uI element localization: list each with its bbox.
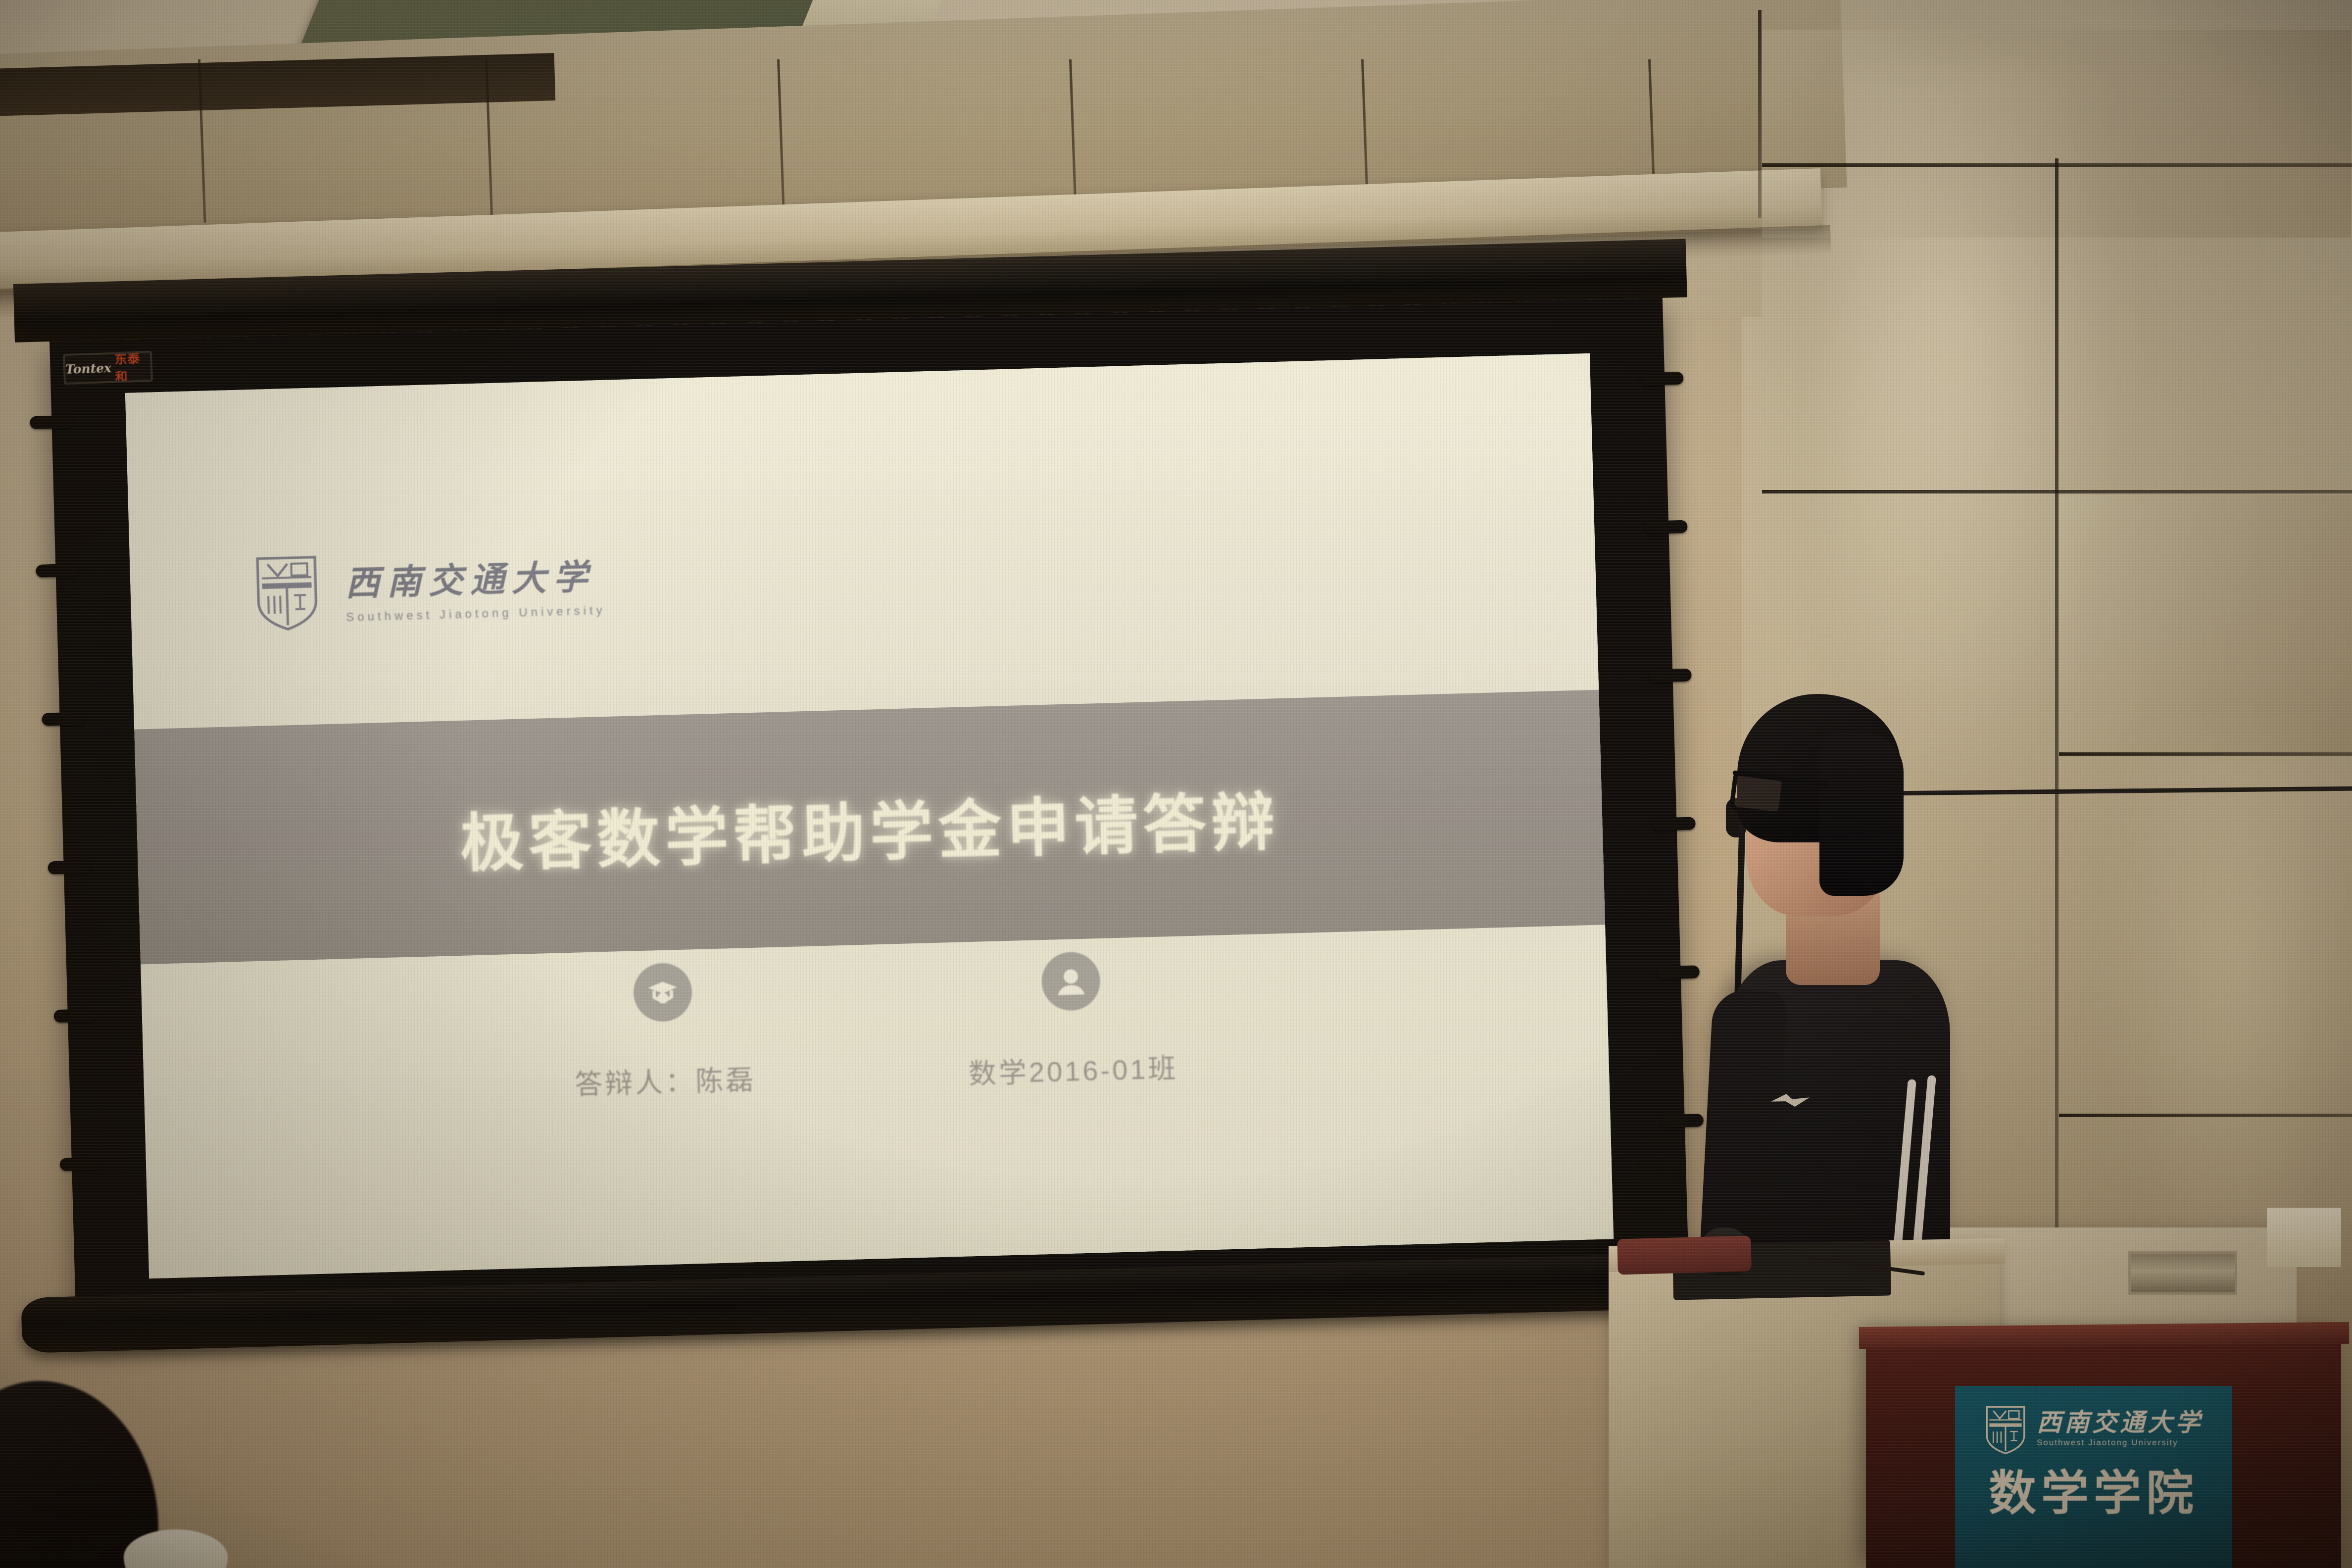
- brand-latin-text: Tontex: [65, 360, 112, 376]
- class-label: 数学2016-01班: [968, 1046, 1179, 1092]
- screen-projection-surface: 西南交通大学 Southwest Jiaotong University 极客数…: [125, 353, 1614, 1278]
- right-wall-panel: [2059, 495, 2352, 752]
- shield-crest-icon: [1984, 1403, 2027, 1455]
- screen-tension-tab: [1653, 817, 1696, 831]
- brand-cn-text: 东泰和: [114, 351, 151, 385]
- desk-wood-rail: [1617, 1235, 1752, 1274]
- slide-meta-presenter: 答辩人：陈磊: [572, 961, 756, 1103]
- right-wall-seam: [2059, 752, 2352, 756]
- projection-screen: 西南交通大学 Southwest Jiaotong University 极客数…: [49, 298, 1691, 1395]
- screen-tension-tab: [1657, 965, 1700, 979]
- screen-tension-tab: [1661, 1114, 1704, 1127]
- slide-meta-class: 数学2016-01班: [965, 949, 1178, 1092]
- right-wall-seam: [2059, 1114, 2352, 1117]
- screen-tension-tab: [1645, 520, 1688, 534]
- lecture-hall-photo: 西南交通大学 Southwest Jiaotong University 极客数…: [0, 0, 2352, 1568]
- monitor-vent-slot: [2128, 1251, 2237, 1295]
- podium-university-cn: 西南交通大学: [2037, 1410, 2203, 1435]
- screen-tension-tab: [54, 1009, 97, 1023]
- presenter-hair-back: [1819, 733, 1904, 896]
- presentation-slide: 西南交通大学 Southwest Jiaotong University 极客数…: [125, 353, 1614, 1278]
- podium-sign-logo-row: 西南交通大学 Southwest Jiaotong University: [1984, 1403, 2203, 1455]
- right-wall-seam-vertical: [1758, 10, 1762, 218]
- podium-department-cn: 数学学院: [1989, 1470, 2199, 1518]
- screen-tension-tab: [60, 1157, 103, 1171]
- presenter-label: 答辩人：陈磊: [574, 1058, 756, 1103]
- screen-tension-tab: [1641, 372, 1684, 386]
- university-name-cn: 西南交通大学: [344, 548, 605, 605]
- graduation-cap-icon: [633, 963, 693, 1023]
- podium-university-en: Southwest Jiaotong University: [2037, 1438, 2203, 1448]
- person-bust-icon: [1041, 951, 1101, 1011]
- screen-tension-tab: [36, 564, 79, 578]
- slide-title-text: 极客数学帮助学金申请答辩: [459, 770, 1280, 884]
- screen-tension-tab: [30, 415, 73, 429]
- university-name-en: Southwest Jiaotong University: [346, 603, 606, 624]
- monitor-highlight: [2267, 1208, 2341, 1267]
- screen-tension-tab: [48, 860, 91, 874]
- university-logo: 西南交通大学 Southwest Jiaotong University: [253, 543, 606, 632]
- slide-title: 极客数学帮助学金申请答辩: [134, 690, 1605, 964]
- slide-top-area: [125, 353, 1599, 730]
- podium-sign: 西南交通大学 Southwest Jiaotong University 数学学…: [1955, 1386, 2232, 1568]
- screen-tension-tab: [42, 712, 85, 726]
- shield-crest-icon: [253, 551, 321, 632]
- screen-brand-plate: Tontex 东泰和: [63, 351, 153, 385]
- screen-tension-tab: [1649, 669, 1692, 683]
